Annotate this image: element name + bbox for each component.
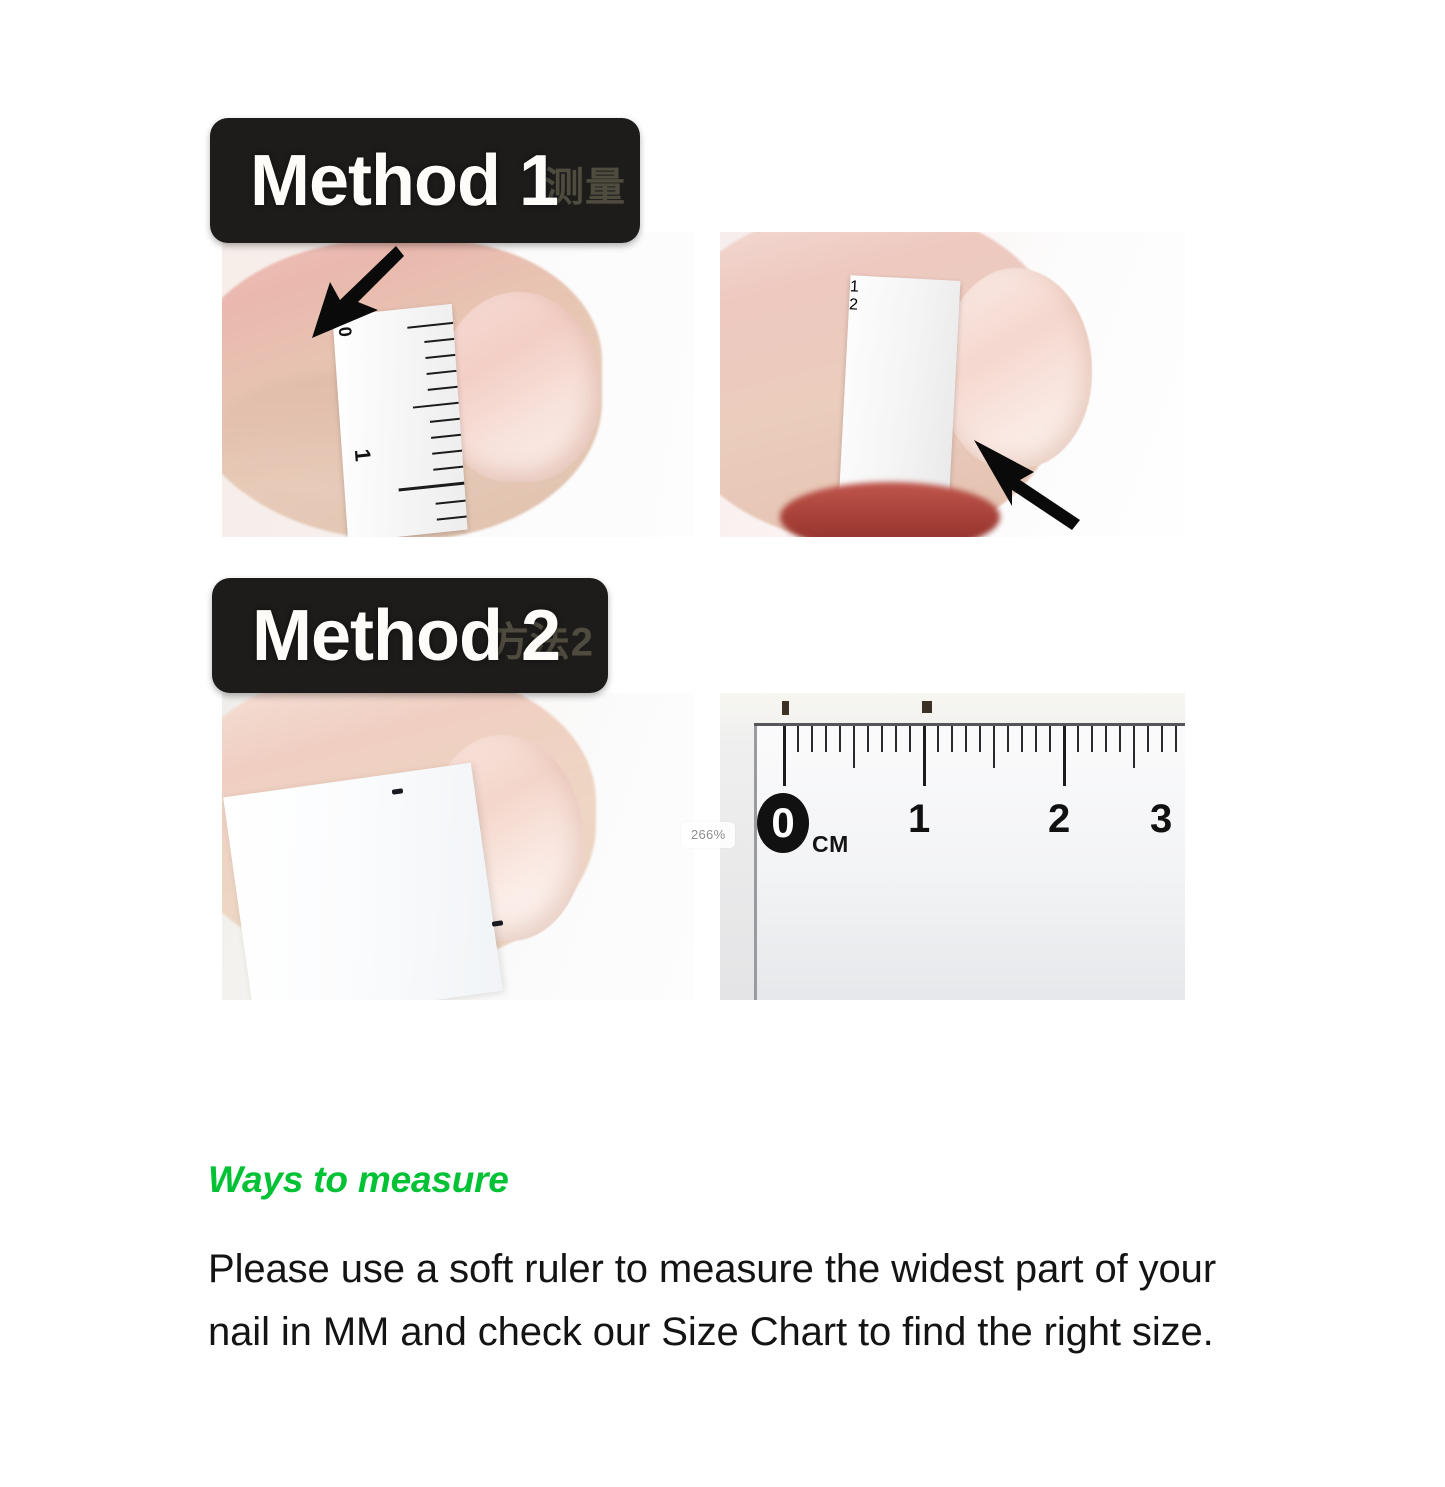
ruler-number-1: 1 bbox=[908, 799, 930, 839]
paper-strip bbox=[223, 763, 503, 1000]
ruler-dot-marker bbox=[922, 701, 932, 713]
fingernail-shape bbox=[440, 292, 600, 482]
panel-tape-front: 0 1 bbox=[222, 232, 694, 537]
ruler-unit-label: CM bbox=[812, 831, 849, 858]
section-heading: Ways to measure bbox=[208, 1158, 1248, 1202]
ruler-dot-marker bbox=[782, 701, 789, 715]
method-2-label: Method 2 bbox=[212, 600, 560, 672]
method-1-photo-row: 0 1 bbox=[222, 232, 1185, 537]
pointer-arrow-icon bbox=[292, 238, 412, 348]
zoom-level-indicator: 266% bbox=[681, 822, 735, 848]
ruler-number-3: 3 bbox=[1150, 799, 1172, 839]
plastic-ruler bbox=[754, 723, 1185, 1000]
ruler-zero-badge: 0 bbox=[757, 793, 809, 853]
method-1-label: Method 1 bbox=[210, 145, 558, 217]
pointer-arrow-icon bbox=[968, 428, 1098, 537]
panel-tape-side: 1 2 bbox=[720, 232, 1185, 537]
page-root: 0 1 bbox=[0, 0, 1445, 1487]
panel-ruler: 0 CM 1 2 3 bbox=[720, 693, 1185, 1000]
ruler-number-2: 2 bbox=[1048, 799, 1070, 839]
method-2-badge: 方法2 Method 2 bbox=[212, 578, 608, 693]
section-paragraph: Please use a soft ruler to measure the w… bbox=[208, 1202, 1248, 1364]
method-1-badge: 测量 Method 1 bbox=[210, 118, 640, 243]
panel-paper-strip bbox=[222, 693, 694, 1000]
description-section: Ways to measure Please use a soft ruler … bbox=[208, 1158, 1248, 1364]
